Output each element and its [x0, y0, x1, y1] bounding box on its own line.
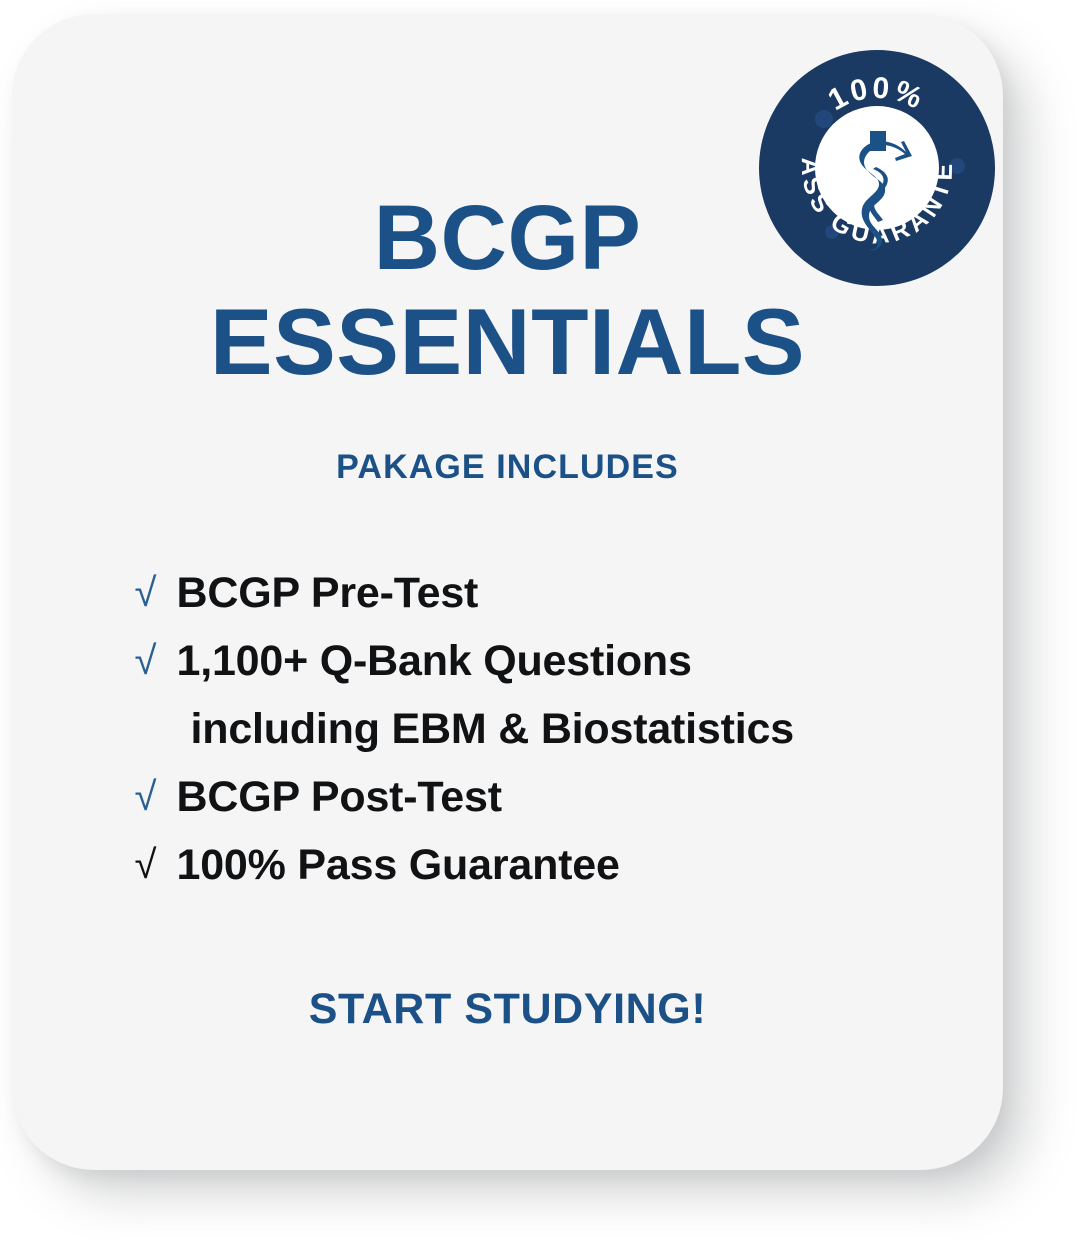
feature-list: √ BCGP Pre-Test √ 1,100+ Q-Bank Question… [135, 559, 895, 899]
check-icon: √ [135, 763, 177, 831]
check-icon: √ [135, 831, 177, 899]
list-item: √ 1,100+ Q-Bank Questions [135, 627, 895, 695]
list-item-label: BCGP Pre-Test [177, 559, 895, 627]
list-item-label: 1,100+ Q-Bank Questions [177, 627, 895, 695]
badge-dot [815, 110, 833, 128]
list-item: √ 100% Pass Guarantee [135, 831, 895, 899]
list-item-label: 100% Pass Guarantee [177, 831, 895, 899]
check-icon: √ [135, 627, 177, 695]
list-item: √ BCGP Pre-Test [135, 559, 895, 627]
poster-canvas: BCGP ESSENTIALS PAKAGE INCLUDES √ BCGP P… [0, 0, 1080, 1240]
list-item-label: including EBM & Biostatistics [177, 695, 895, 763]
list-item-label: BCGP Post-Test [177, 763, 895, 831]
package-includes-subtitle: PAKAGE INCLUDES [336, 448, 679, 487]
list-item-continuation: including EBM & Biostatistics [135, 695, 895, 763]
check-icon: √ [135, 559, 177, 627]
title-line-two: ESSENTIALS [12, 290, 1003, 394]
list-item: √ BCGP Post-Test [135, 763, 895, 831]
pass-guarantee-badge: 100% PASS GUARANTEE [758, 49, 996, 287]
start-studying-cta[interactable]: START STUDYING! [309, 985, 707, 1034]
